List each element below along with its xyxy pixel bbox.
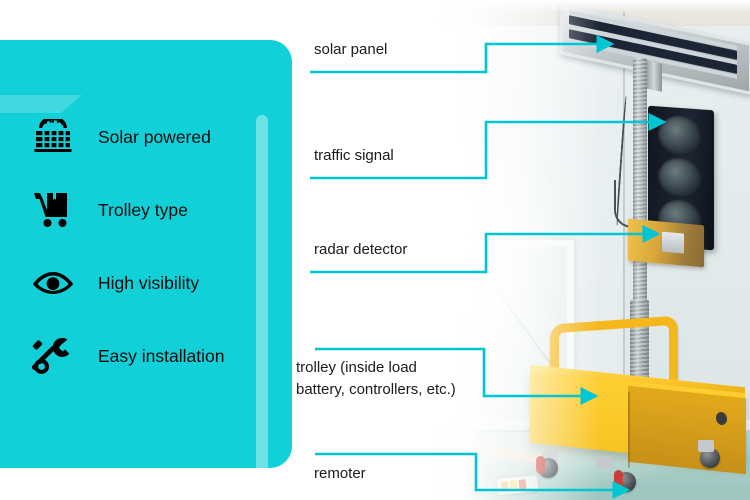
feature-label-easy-installation: Easy installation xyxy=(98,346,224,367)
eye-icon xyxy=(30,260,76,306)
trolley-cart-icon xyxy=(30,187,76,233)
feature-item-solar-powered[interactable]: Solar powered xyxy=(30,102,260,172)
feature-panel: Solar powered Trolley xyxy=(0,40,292,468)
feature-label-high-visibility: High visibility xyxy=(98,273,199,294)
feature-label-trolley-type: Trolley type xyxy=(98,200,188,221)
feature-list: Solar powered Trolley xyxy=(30,102,260,394)
feature-item-high-visibility[interactable]: High visibility xyxy=(30,248,260,318)
solar-panel-icon xyxy=(30,114,76,160)
tools-icon xyxy=(30,333,76,379)
feature-item-easy-installation[interactable]: Easy installation xyxy=(30,321,260,391)
feature-label-solar-powered: Solar powered xyxy=(98,127,211,148)
screenshot-canvas: solar panel traffic signal radar detecto… xyxy=(0,0,750,500)
feature-item-trolley-type[interactable]: Trolley type xyxy=(30,175,260,245)
